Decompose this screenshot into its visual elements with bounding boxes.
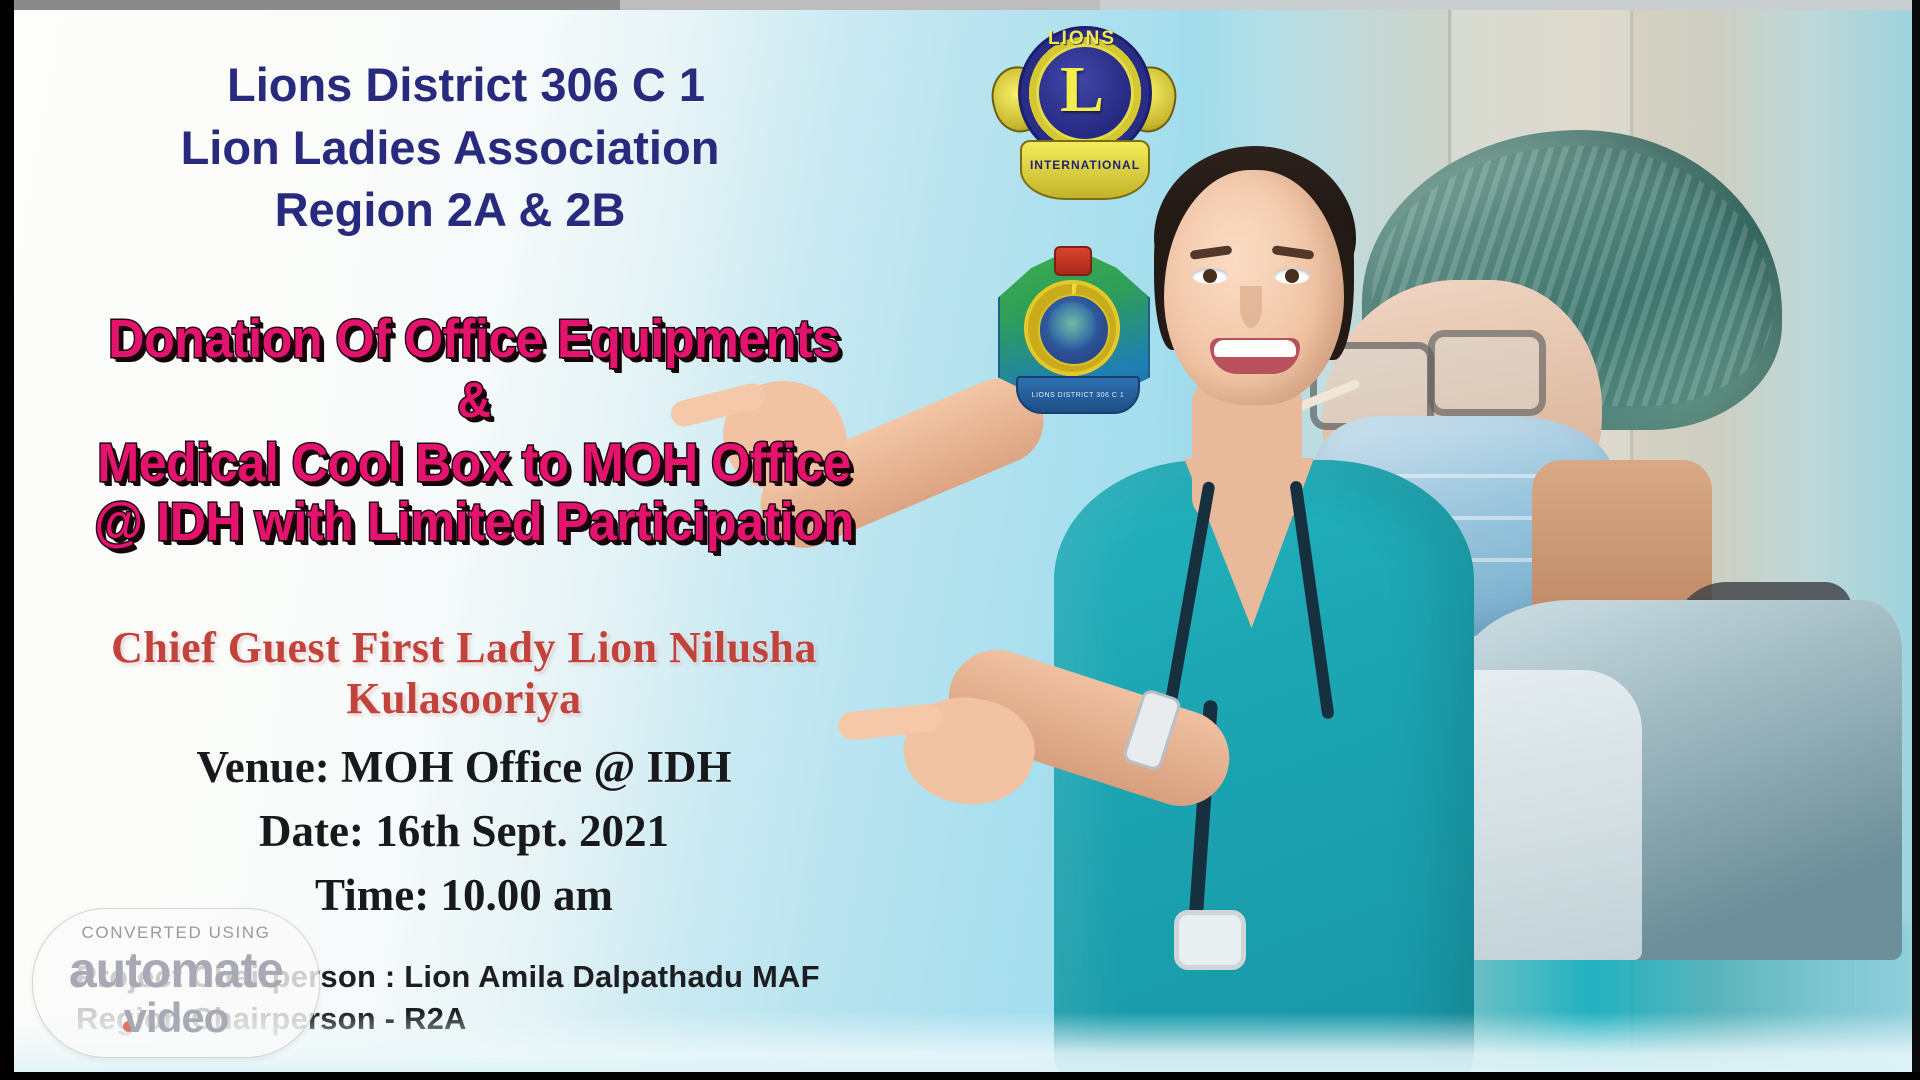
chief-guest-line: Chief Guest First Lady Lion Nilusha Kula… [14, 622, 914, 724]
watermark-label: CONVERTED USING [33, 923, 319, 943]
nurse-photo [1014, 80, 1534, 1072]
date-line: Date: 16th Sept. 2021 [14, 800, 914, 864]
project-title-line-1: Donation Of Office Equipments [46, 310, 902, 368]
window-right-border [1912, 0, 1920, 1080]
venue-line: Venue: MOH Office @ IDH [14, 736, 914, 800]
project-title-line-3: Medical Cool Box to MOH Office [46, 434, 902, 492]
window-left-border [0, 0, 14, 1080]
org-line-1: Lions District 306 C 1 [38, 54, 894, 117]
nurse-smile [1210, 338, 1300, 374]
organization-heading: Lions District 306 C 1 Lion Ladies Assoc… [14, 54, 894, 242]
project-title-ampersand: & [46, 370, 902, 430]
watermark-brand: automate [33, 945, 319, 995]
crest-base-text: LIONS DISTRICT 306 C 1 [1016, 376, 1140, 414]
window-bottom-border [0, 1072, 1920, 1080]
event-poster: LIONS L INTERNATIONAL LIONS DISTRICT 306… [14, 10, 1912, 1072]
window-top-border [0, 0, 1920, 10]
lions-banner-text: INTERNATIONAL [1020, 140, 1150, 200]
org-line-3: Region 2A & 2B [14, 179, 894, 242]
lions-center-letter: L [1036, 44, 1128, 136]
project-title-block: Donation Of Office Equipments & Medical … [14, 310, 934, 551]
project-title-line-4: @ IDH with Limited Participation [46, 493, 902, 551]
event-details-block: Venue: MOH Office @ IDH Date: 16th Sept.… [14, 736, 914, 928]
org-line-2: Lion Ladies Association [14, 117, 894, 180]
screenshot-root: LIONS L INTERNATIONAL LIONS DISTRICT 306… [0, 0, 1920, 1080]
converted-using-watermark: CONVERTED USING automate video [32, 908, 320, 1058]
watermark-brand-sub: video [33, 997, 319, 1039]
